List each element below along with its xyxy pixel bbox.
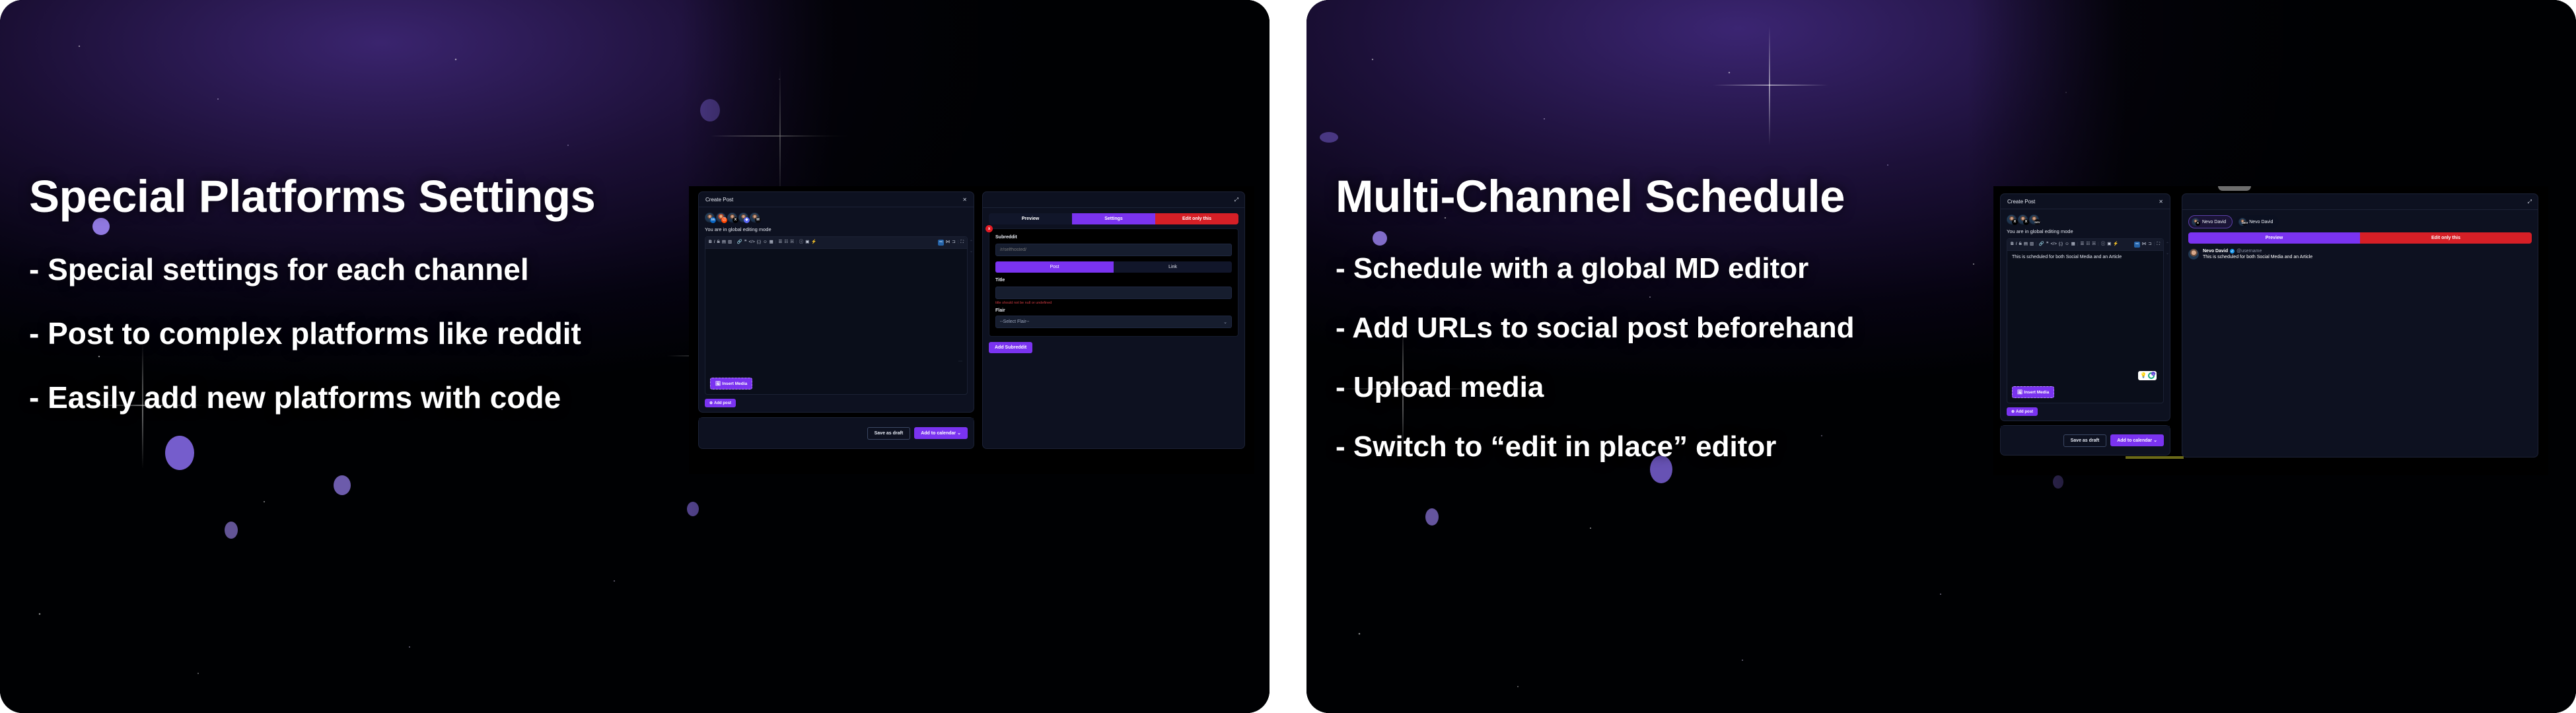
flair-label: Flair xyxy=(995,308,1232,313)
markdown-editor[interactable]: B I S ▤ ▥ | 🔗 ❞ </> {;} ☺ xyxy=(2007,238,2164,403)
italic-icon[interactable]: I xyxy=(714,240,715,245)
code-icon[interactable]: </> xyxy=(748,240,754,245)
editor-only-icon[interactable]: ⊐ xyxy=(2148,242,2151,247)
channel-pill-dev[interactable]: DEV Nevo David xyxy=(2236,215,2279,228)
x-icon: X xyxy=(733,217,738,223)
image-icon[interactable]: ▣ xyxy=(2107,242,2111,247)
chevron-down-icon: ⌄ xyxy=(1223,320,1227,325)
modal-title: Create Post xyxy=(2007,199,2035,205)
title-label: Title xyxy=(995,278,1232,283)
lightning-icon[interactable]: ⚡ xyxy=(2113,242,2118,247)
fullscreen-icon[interactable]: ⛶ xyxy=(2157,242,2160,247)
fullscreen-icon[interactable]: ⛶ xyxy=(960,240,964,245)
avatar: X xyxy=(2192,218,2200,226)
preview-text: This is scheduled for both Social Media … xyxy=(2203,255,2312,259)
bottom-accent-bar xyxy=(2126,456,2184,459)
chevron-down-icon: ⌄ xyxy=(957,430,961,436)
tab-preview[interactable]: Preview xyxy=(989,213,1072,224)
plus-circle-icon: ⊕ xyxy=(2011,409,2015,414)
insert-media-button[interactable]: 🖼 Insert Media xyxy=(2012,386,2054,398)
settings-tabs: Preview Settings Edit only this xyxy=(989,213,1238,224)
numbered-list-icon[interactable]: ☷ xyxy=(784,240,788,245)
strikethrough-icon[interactable]: S xyxy=(717,240,720,245)
editor-textarea[interactable] xyxy=(705,249,967,395)
table-icon[interactable]: ▦ xyxy=(769,240,773,245)
app-screenshot-multichannel: Create Post ✕ X X DEV You are in global … xyxy=(1993,186,2548,475)
global-editing-mode-label: You are in global editing mode xyxy=(705,226,968,232)
info-icon[interactable]: ⓘ xyxy=(2101,242,2106,247)
expand-icon[interactable]: ⤢ xyxy=(1234,197,1238,203)
link-icon[interactable]: 🔗 xyxy=(2039,242,2044,247)
heading2-icon[interactable]: ▥ xyxy=(2030,242,2034,247)
emoji-icon[interactable]: ☺ xyxy=(2065,242,2069,247)
lightning-icon[interactable]: ⚡ xyxy=(811,240,816,245)
save-as-draft-button[interactable]: Save as draft xyxy=(867,427,911,440)
split-view-icon[interactable]: ⫤ xyxy=(938,240,944,246)
modal-header: Create Post ✕ xyxy=(2001,194,2170,209)
quote-icon[interactable]: ❞ xyxy=(744,240,747,245)
global-editing-mode-label: You are in global editing mode xyxy=(2007,228,2164,234)
camera-notch xyxy=(2218,186,2251,191)
numbered-list-icon[interactable]: ☷ xyxy=(2086,242,2090,247)
bullet-list-icon[interactable]: ☰ xyxy=(2081,242,2085,247)
avatar: DEV xyxy=(2238,218,2246,226)
grammarly-g-icon: 1 xyxy=(2148,372,2155,379)
slide-deck: Special Platforms Settings - Special set… xyxy=(0,0,2576,713)
add-to-calendar-button[interactable]: Add to calendar ⌄ xyxy=(914,427,968,439)
add-subreddit-button[interactable]: Add Subreddit xyxy=(989,342,1032,353)
expand-icon[interactable]: ⤢ xyxy=(2528,199,2532,205)
tab-edit-only-this[interactable]: Edit only this xyxy=(1155,213,1238,224)
subreddit-settings-panel: x Subreddit Post Link Title title should… xyxy=(989,228,1238,337)
close-icon[interactable]: ✕ xyxy=(2159,199,2163,205)
editor-height-stepper[interactable]: ⌃⌄ xyxy=(970,240,973,254)
devto-icon: DEV xyxy=(2242,221,2247,226)
create-post-modal: Create Post ✕ in ⓡ X ◆ M You are in glob… xyxy=(698,191,974,413)
add-to-calendar-button[interactable]: Add to calendar ⌄ xyxy=(2110,434,2164,446)
bullet-item: - Easily add new platforms with code xyxy=(29,382,581,413)
x-icon: X xyxy=(2196,221,2200,226)
strikethrough-icon[interactable]: S xyxy=(2019,242,2022,247)
bullet-item: - Post to complex platforms like reddit xyxy=(29,318,581,349)
title-input[interactable] xyxy=(995,287,1232,299)
preview-only-icon[interactable]: ⋈ xyxy=(946,240,950,245)
code-block-icon[interactable]: {;} xyxy=(757,240,761,245)
slide-2: Multi-Channel Schedule - Schedule with a… xyxy=(1306,0,2576,713)
toolbar-divider: | xyxy=(2036,242,2037,247)
channel-avatar-list: X X DEV xyxy=(2007,215,2164,224)
toolbar-divider: | xyxy=(2154,242,2155,247)
post-type-post[interactable]: Post xyxy=(995,261,1114,273)
bullet-item: - Upload media xyxy=(1336,373,1855,402)
tab-edit-only-this[interactable]: Edit only this xyxy=(2360,232,2532,244)
channel-pill-x[interactable]: X Nevo David xyxy=(2188,215,2233,228)
verified-badge-icon: ✓ xyxy=(2230,249,2235,254)
tab-preview[interactable]: Preview xyxy=(2188,232,2360,244)
preview-card-header: ⤢ xyxy=(2182,194,2538,210)
bullet-item: - Add URLs to social post beforehand xyxy=(1336,314,1855,343)
heading1-icon[interactable]: ▤ xyxy=(722,240,726,245)
editor-height-stepper[interactable]: ⌃⌄ xyxy=(2166,242,2169,255)
bold-icon[interactable]: B xyxy=(2011,242,2014,247)
avatar-discord[interactable]: ◆ xyxy=(738,213,748,222)
table-icon[interactable]: ▦ xyxy=(2071,242,2075,247)
quote-icon[interactable]: ❞ xyxy=(2046,242,2049,247)
bullet-item: - Special settings for each channel xyxy=(29,254,581,285)
discord-icon: ◆ xyxy=(744,217,750,223)
editor-toolbar: B I S ▤ ▥ | 🔗 ❞ </> {;} ☺ xyxy=(2007,239,2163,251)
editor-toolbar: B I S ▤ ▥ | 🔗 ❞ </> {;} ☺ xyxy=(705,237,967,249)
app-screenshot-platform-settings: Create Post ✕ in ⓡ X ◆ M You are in glob… xyxy=(689,186,1254,474)
bullet-list: - Schedule with a global MD editor - Add… xyxy=(1336,254,1855,461)
preview-handle: @username xyxy=(2236,249,2262,254)
save-as-draft-button[interactable]: Save as draft xyxy=(2063,434,2107,447)
italic-icon[interactable]: I xyxy=(2016,242,2017,247)
post-type-link[interactable]: Link xyxy=(1114,261,1232,273)
modal-action-bar: Save as draft Add to calendar ⌄ xyxy=(2000,425,2170,456)
image-upload-icon: 🖼 xyxy=(2017,390,2022,395)
heading1-icon[interactable]: ▤ xyxy=(2024,242,2028,247)
add-post-button[interactable]: ⊕ Add post xyxy=(705,399,736,407)
x-icon: X xyxy=(2023,219,2029,225)
slide-1: Special Platforms Settings - Special set… xyxy=(0,0,1270,713)
preview-only-icon[interactable]: ⋈ xyxy=(2142,242,2147,247)
reddit-icon: ⓡ xyxy=(721,217,727,223)
add-post-button[interactable]: ⊕ Add post xyxy=(2007,407,2038,416)
editor-only-icon[interactable]: ⊐ xyxy=(952,240,955,245)
link-icon[interactable]: 🔗 xyxy=(737,240,742,245)
settings-card-header: ⤢ xyxy=(983,192,1244,208)
create-post-modal: Create Post ✕ X X DEV You are in global … xyxy=(2000,193,2170,421)
remove-subreddit-button[interactable]: x xyxy=(985,225,993,232)
grammarly-widget[interactable]: 💡 1 xyxy=(2138,371,2157,380)
chevron-down-icon: ⌄ xyxy=(2153,438,2157,443)
image-icon[interactable]: ▣ xyxy=(805,240,809,245)
resize-dots: ⋯ xyxy=(958,359,963,364)
code-icon[interactable]: </> xyxy=(2050,242,2056,247)
image-upload-icon: 🖼 xyxy=(715,381,721,386)
title-error-message: title should not be null or undefined xyxy=(995,301,1232,305)
bullet-list-icon[interactable]: ☰ xyxy=(779,240,783,245)
platform-settings-card: ⤢ Preview Settings Edit only this x Subr… xyxy=(982,191,1245,449)
channel-pill-list: X Nevo David DEV Nevo David xyxy=(2188,215,2532,228)
page-title: Multi-Channel Schedule xyxy=(1336,170,1845,222)
avatar-mastodon[interactable]: M xyxy=(750,213,760,222)
heading2-icon[interactable]: ▥ xyxy=(728,240,732,245)
toolbar-divider: | xyxy=(734,240,735,245)
modal-title: Create Post xyxy=(705,197,733,203)
bullet-item: - Switch to “edit in place” editor xyxy=(1336,432,1855,461)
toolbar-divider: | xyxy=(958,240,959,245)
toolbar-divider: | xyxy=(796,240,797,245)
close-icon[interactable]: ✕ xyxy=(962,197,967,203)
subreddit-label: Subreddit xyxy=(995,235,1232,240)
bold-icon[interactable]: B xyxy=(709,240,712,245)
subreddit-input[interactable] xyxy=(995,244,1232,256)
resize-dots: ⋯ xyxy=(2155,372,2160,376)
preview-post: Nevo David ✓ @username This is scheduled… xyxy=(2188,249,2532,259)
modal-header: Create Post ✕ xyxy=(699,192,974,207)
bullet-list: - Special settings for each channel - Po… xyxy=(29,254,581,413)
toolbar-divider: | xyxy=(2098,242,2099,247)
channel-preview-card: ⤢ X Nevo David DEV Nevo David xyxy=(2182,193,2538,458)
lightbulb-icon: 💡 xyxy=(2140,373,2147,378)
plus-circle-icon: ⊕ xyxy=(709,401,713,405)
post-type-toggle: Post Link xyxy=(995,261,1232,273)
page-title: Special Platforms Settings xyxy=(29,170,595,222)
flair-select[interactable]: --Select Flair-- ⌄ xyxy=(995,316,1232,328)
avatar-x-1[interactable]: X xyxy=(2007,215,2017,224)
split-view-icon[interactable]: ⫤ xyxy=(2134,242,2140,248)
devto-icon: DEV xyxy=(2034,219,2040,225)
emoji-icon[interactable]: ☺ xyxy=(763,240,768,245)
toolbar-divider: | xyxy=(775,240,777,245)
markdown-editor[interactable]: B I S ▤ ▥ | 🔗 ❞ </> {;} ☺ xyxy=(705,236,968,395)
avatar-reddit[interactable]: ⓡ xyxy=(716,213,726,222)
tab-settings[interactable]: Settings xyxy=(1072,213,1155,224)
avatar-x-2[interactable]: X xyxy=(2018,215,2028,224)
insert-media-button[interactable]: 🖼 Insert Media xyxy=(710,378,752,390)
modal-action-bar: Save as draft Add to calendar ⌄ xyxy=(698,417,974,449)
avatar-x[interactable]: X xyxy=(727,213,737,222)
preview-author: Nevo David ✓ @username xyxy=(2203,249,2312,254)
channel-avatar-list: in ⓡ X ◆ M xyxy=(705,213,968,222)
bullet-item: - Schedule with a global MD editor xyxy=(1336,254,1855,283)
code-block-icon[interactable]: {;} xyxy=(2059,242,2063,247)
avatar-dev[interactable]: DEV xyxy=(2029,215,2039,224)
info-icon[interactable]: ⓘ xyxy=(799,240,804,245)
checklist-icon[interactable]: ☵ xyxy=(2092,242,2096,247)
linkedin-icon: in xyxy=(710,217,716,223)
avatar-linkedin[interactable]: in xyxy=(705,213,715,222)
avatar xyxy=(2188,249,2199,259)
checklist-icon[interactable]: ☵ xyxy=(790,240,794,245)
toolbar-divider: | xyxy=(2077,242,2079,247)
preview-tabs: Preview Edit only this xyxy=(2188,232,2532,244)
x-icon: X xyxy=(2012,219,2018,225)
mastodon-icon: M xyxy=(755,217,761,223)
